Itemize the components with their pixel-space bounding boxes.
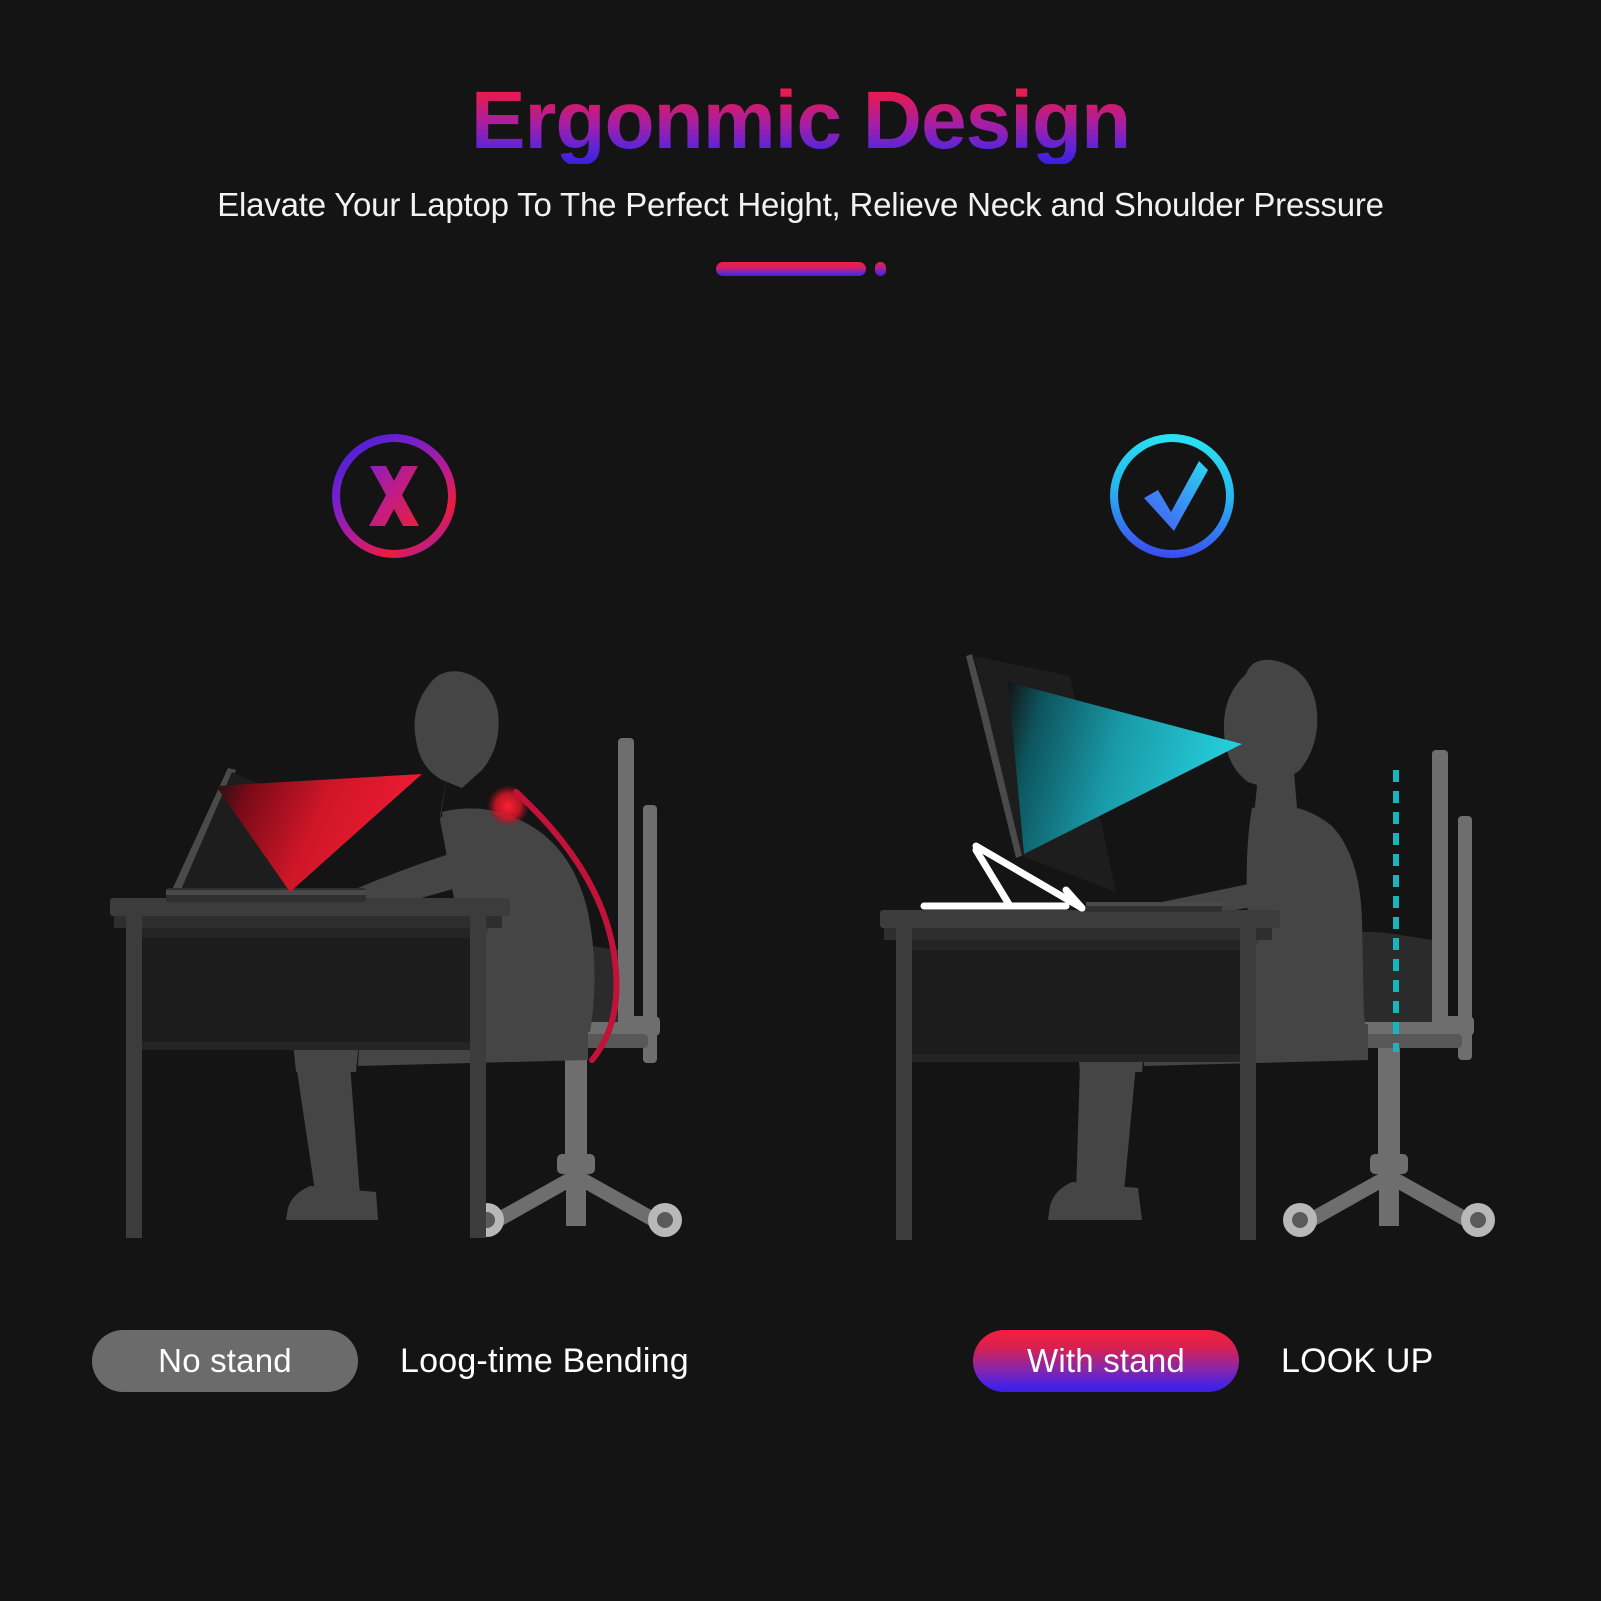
- footer-labels: No stand Loog-time Bending With stand LO…: [0, 1330, 1601, 1420]
- divider-dot: [875, 262, 886, 276]
- page-subtitle: Elavate Your Laptop To The Perfect Heigh…: [0, 186, 1601, 224]
- gradient-divider: [0, 262, 1601, 276]
- ergonomic-design-infographic: Ergonmic Design Elavate Your Laptop To T…: [0, 0, 1601, 1601]
- header: Ergonmic Design Elavate Your Laptop To T…: [0, 0, 1601, 276]
- no-stand-pill[interactable]: No stand: [92, 1330, 358, 1392]
- page-title: Ergonmic Design: [471, 78, 1130, 164]
- no-stand-caption: Loog-time Bending: [400, 1342, 689, 1381]
- x-circle-icon: [326, 428, 462, 564]
- illustration-no-stand: [110, 620, 870, 1260]
- with-stand-caption: LOOK UP: [1281, 1342, 1434, 1381]
- check-circle-icon: [1104, 428, 1240, 564]
- label-group-no-stand: No stand Loog-time Bending: [92, 1330, 689, 1392]
- divider-bar: [716, 262, 866, 276]
- illustration-with-stand: [880, 620, 1601, 1260]
- label-group-with-stand: With stand LOOK UP: [973, 1330, 1434, 1392]
- with-stand-pill[interactable]: With stand: [973, 1330, 1239, 1392]
